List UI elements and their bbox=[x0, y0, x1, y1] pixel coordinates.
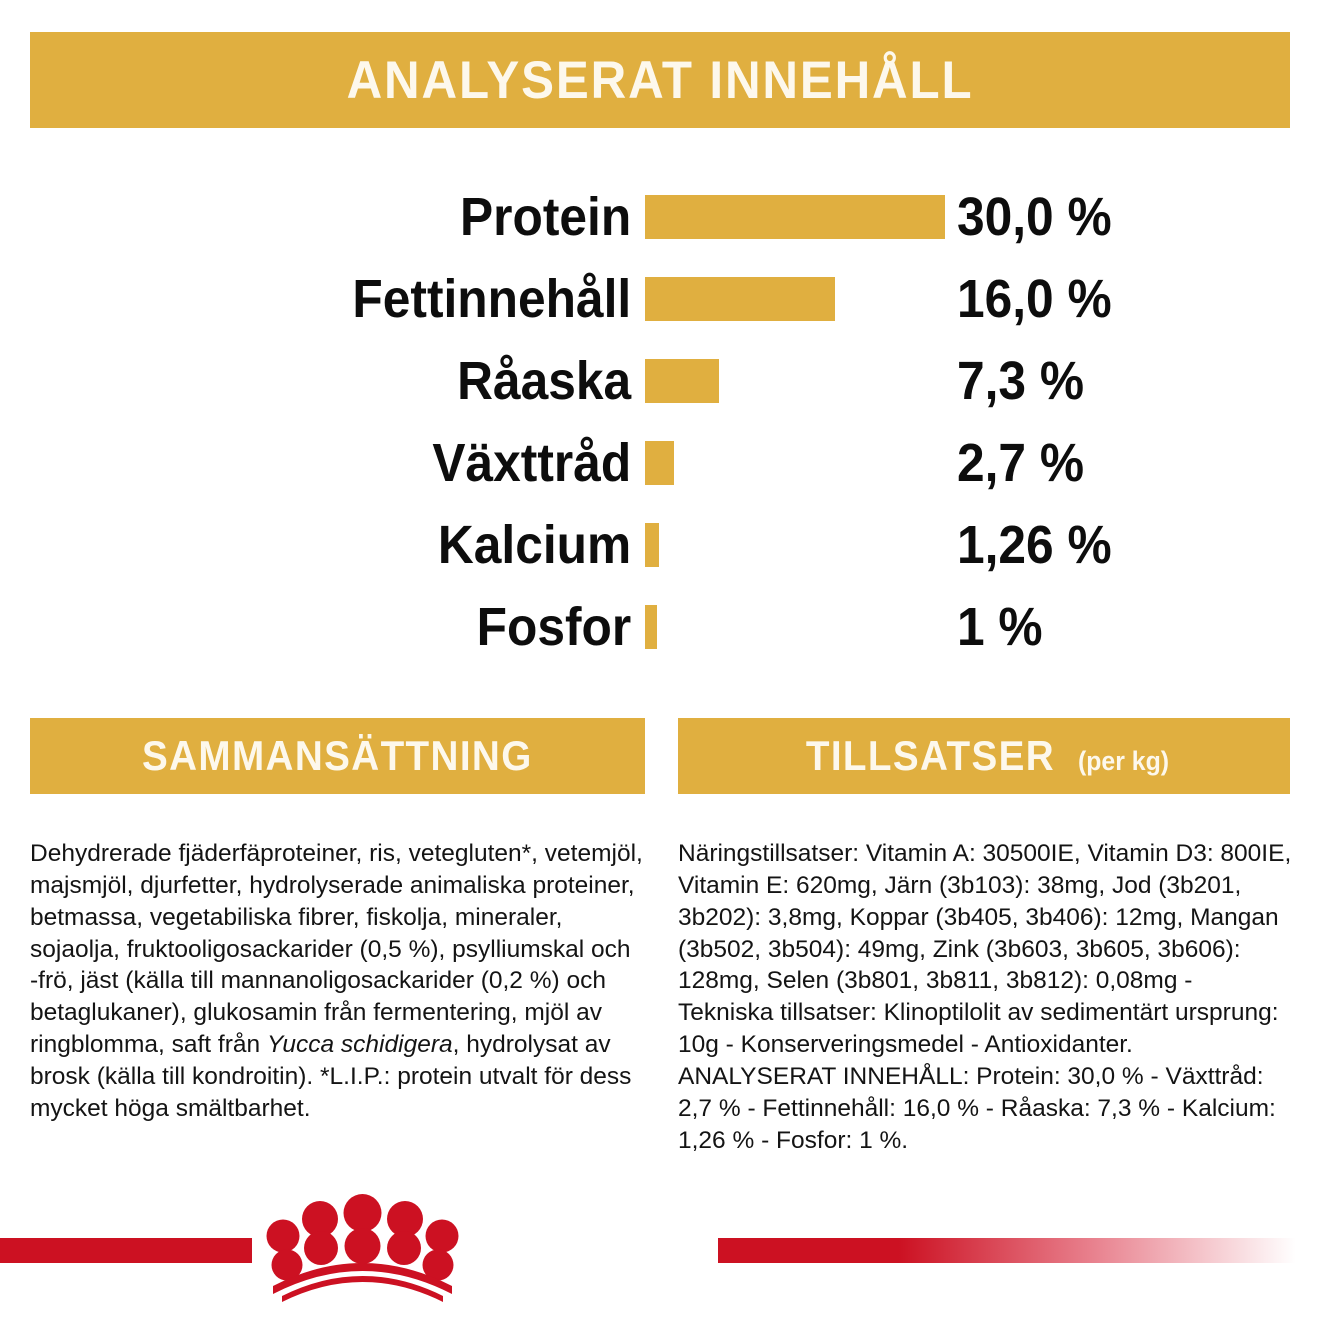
analysis-row-label: Kalcium bbox=[52, 518, 645, 572]
analysis-row-bar bbox=[645, 605, 657, 649]
composition-paragraph: Dehydrerade fjäderfäproteiner, ris, vete… bbox=[30, 838, 645, 1125]
analysis-row-value: 30,0 % bbox=[957, 190, 1112, 244]
additives-header-sublabel: (per kg) bbox=[1078, 748, 1169, 775]
analysed-content-banner: ANALYSERAT INNEHÅLL bbox=[30, 32, 1290, 128]
analysis-row-value: 1,26 % bbox=[957, 518, 1112, 572]
analysis-row: Fosfor1 % bbox=[0, 586, 1320, 668]
analysis-chart: Protein30,0 %Fettinnehåll16,0 %Råaska7,3… bbox=[0, 176, 1320, 668]
composition-text-1: Dehydrerade fjäderfäproteiner, ris, vete… bbox=[30, 840, 643, 1058]
analysis-row-label: Växttråd bbox=[52, 436, 645, 490]
footer bbox=[0, 1186, 1320, 1320]
analysis-row-value: 16,0 % bbox=[957, 272, 1112, 326]
analysis-row: Protein30,0 % bbox=[0, 176, 1320, 258]
analysis-row: Fettinnehåll16,0 % bbox=[0, 258, 1320, 340]
page-title: ANALYSERAT INNEHÅLL bbox=[347, 54, 974, 107]
composition-body: Dehydrerade fjäderfäproteiner, ris, vete… bbox=[30, 838, 645, 1125]
analysis-row-bar-wrap bbox=[645, 605, 963, 649]
analysis-row-value: 1 % bbox=[957, 600, 1043, 654]
analysis-row-bar bbox=[645, 359, 719, 403]
analysis-row: Växttråd2,7 % bbox=[0, 422, 1320, 504]
analysis-row-bar-wrap bbox=[645, 195, 963, 239]
analysis-row-value: 7,3 % bbox=[957, 354, 1084, 408]
analysis-row-bar-wrap bbox=[645, 441, 963, 485]
additives-paragraph: ANALYSERAT INNEHÅLL: Protein: 30,0 % - V… bbox=[678, 1061, 1293, 1157]
analysis-row-bar-wrap bbox=[645, 359, 963, 403]
analysis-row-bar bbox=[645, 277, 835, 321]
additives-body: Näringstillsatser: Vitamin A: 30500IE, V… bbox=[678, 838, 1293, 1156]
analysis-row-label: Protein bbox=[52, 190, 645, 244]
analysis-row-bar bbox=[645, 441, 674, 485]
analysis-row-bar-wrap bbox=[645, 523, 963, 567]
footer-red-bar-right bbox=[718, 1238, 1320, 1263]
additives-header: TILLSATSER (per kg) bbox=[678, 718, 1290, 794]
analysis-row-label: Fosfor bbox=[52, 600, 645, 654]
composition-italic-term: Yucca schidigera bbox=[267, 1031, 453, 1058]
footer-red-bar-left bbox=[0, 1238, 252, 1263]
analysis-row-value: 2,7 % bbox=[957, 436, 1084, 490]
analysis-row: Kalcium1,26 % bbox=[0, 504, 1320, 586]
analysis-row: Råaska7,3 % bbox=[0, 340, 1320, 422]
analysis-row-label: Råaska bbox=[52, 354, 645, 408]
composition-header-label: SAMMANSÄTTNING bbox=[142, 735, 533, 777]
analysis-row-bar bbox=[645, 195, 945, 239]
composition-header: SAMMANSÄTTNING bbox=[30, 718, 645, 794]
additives-paragraph: Näringstillsatser: Vitamin A: 30500IE, V… bbox=[678, 838, 1293, 1061]
analysis-row-bar-wrap bbox=[645, 277, 963, 321]
analysis-row-label: Fettinnehåll bbox=[52, 272, 645, 326]
royal-canin-crown-icon bbox=[255, 1186, 470, 1306]
additives-header-label: TILLSATSER bbox=[805, 735, 1054, 777]
analysis-row-bar bbox=[645, 523, 659, 567]
